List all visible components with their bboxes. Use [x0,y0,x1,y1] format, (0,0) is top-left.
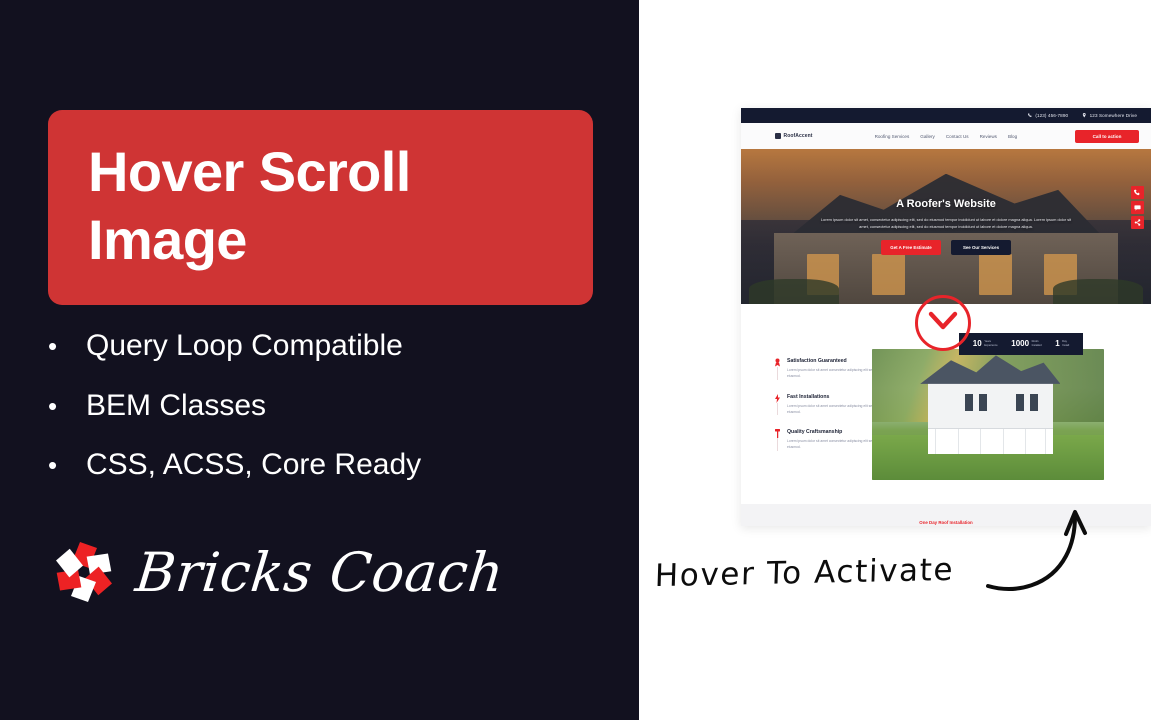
lightning-icon [774,394,781,403]
hero-content: A Roofer's Website Lorem ipsum dolor sit… [741,149,1151,304]
pinwheel-logo-icon [48,534,120,610]
site-logo-icon[interactable]: RoofAccent [775,133,813,139]
topbar-address[interactable]: 123 Somewhere Drive [1082,113,1137,118]
mock-topbar: (123) 456-7890 123 Somewhere Drive [741,108,1151,123]
annotation-text: Hover To Activate [654,552,954,594]
page-title: Hover Scroll Image [88,138,411,275]
photo-shutter [979,394,987,411]
nav-item-roofing-services[interactable]: Roofing Services [875,134,910,139]
stat-label: Day Install [1062,340,1069,348]
topbar-address-text: 123 Somewhere Drive [1090,113,1137,118]
stat-number: 1 [1055,340,1059,348]
right-panel: (123) 456-7890 123 Somewhere Drive RoofA… [639,0,1151,720]
message-icon[interactable] [1131,201,1144,214]
share-icon[interactable] [1131,216,1144,229]
nav-item-contact-us[interactable]: Contact Us [946,134,969,139]
list-item: • Query Loop Compatible [48,330,608,362]
slide-canvas: Hover Scroll Image • Query Loop Compatib… [0,0,1151,720]
stat-item: 1 Day Install [1055,340,1069,348]
nav-item-gallery[interactable]: Gallery [920,134,935,139]
bullet-label: CSS, ACSS, Core Ready [86,449,421,481]
mock-hero: A Roofer's Website Lorem ipsum dolor sit… [741,149,1151,304]
brand-lockup: Bricks Coach [48,534,504,610]
brand-name: Bricks Coach [133,541,507,604]
bullet-label: BEM Classes [86,390,266,422]
stat-item: 10 Years Experience [973,340,998,348]
bullet-marker-icon: • [48,452,86,479]
hero-primary-button[interactable]: Get A Free Estimate [881,240,941,255]
scroll-indicator[interactable] [915,295,971,351]
stat-label: Years Experience [984,340,997,348]
site-logo-text: RoofAccent [784,133,813,139]
nav-item-blog[interactable]: Blog [1008,134,1017,139]
stat-number: 1000 [1011,340,1029,348]
nav-cta-button[interactable]: Call to action [1075,130,1139,143]
chevron-down-icon [928,310,958,337]
mock-navbar: RoofAccent Roofing Services Gallery Cont… [741,123,1151,149]
bullet-marker-icon: • [48,333,86,360]
stat-label: Roofs Installed [1032,340,1042,348]
bullet-marker-icon: • [48,393,86,420]
phone-icon [1028,113,1033,118]
phone-call-icon[interactable] [1131,186,1144,199]
map-pin-icon [1082,113,1087,118]
topbar-phone-text: (123) 456-7890 [1035,113,1068,118]
nav-item-reviews[interactable]: Reviews [980,134,997,139]
topbar-phone[interactable]: (123) 456-7890 [1028,113,1068,118]
hero-heading: A Roofer's Website [896,198,996,210]
stat-number: 10 [973,340,982,348]
photo-shutter [1030,394,1038,411]
photo-porch [928,428,1053,454]
title-card: Hover Scroll Image [48,110,593,305]
mock-nav-links: Roofing Services Gallery Contact Us Revi… [875,134,1018,139]
list-item: • BEM Classes [48,390,608,422]
house-photo [872,349,1104,480]
curved-arrow-up-right-icon [986,508,1096,603]
floating-action-buttons [1131,186,1144,229]
hero-button-group: Get A Free Estimate See Our Services [881,240,1011,255]
stats-bar: 10 Years Experience 1000 Roofs Installed… [959,333,1083,355]
photo-shutter [965,394,973,411]
medal-icon [774,358,781,367]
bullet-label: Query Loop Compatible [86,330,403,362]
feature-bullet-list: • Query Loop Compatible • BEM Classes • … [48,330,608,509]
stat-item: 1000 Roofs Installed [1011,340,1041,348]
photo-shutter [1016,394,1024,411]
hero-secondary-button[interactable]: See Our Services [951,240,1011,255]
left-panel: Hover Scroll Image • Query Loop Compatib… [0,0,639,720]
list-item: • CSS, ACSS, Core Ready [48,449,608,481]
hero-paragraph: Lorem ipsum dolor sit amet, consectetur … [819,217,1074,231]
hammer-icon [774,429,781,438]
site-logo-glyph [775,133,781,139]
